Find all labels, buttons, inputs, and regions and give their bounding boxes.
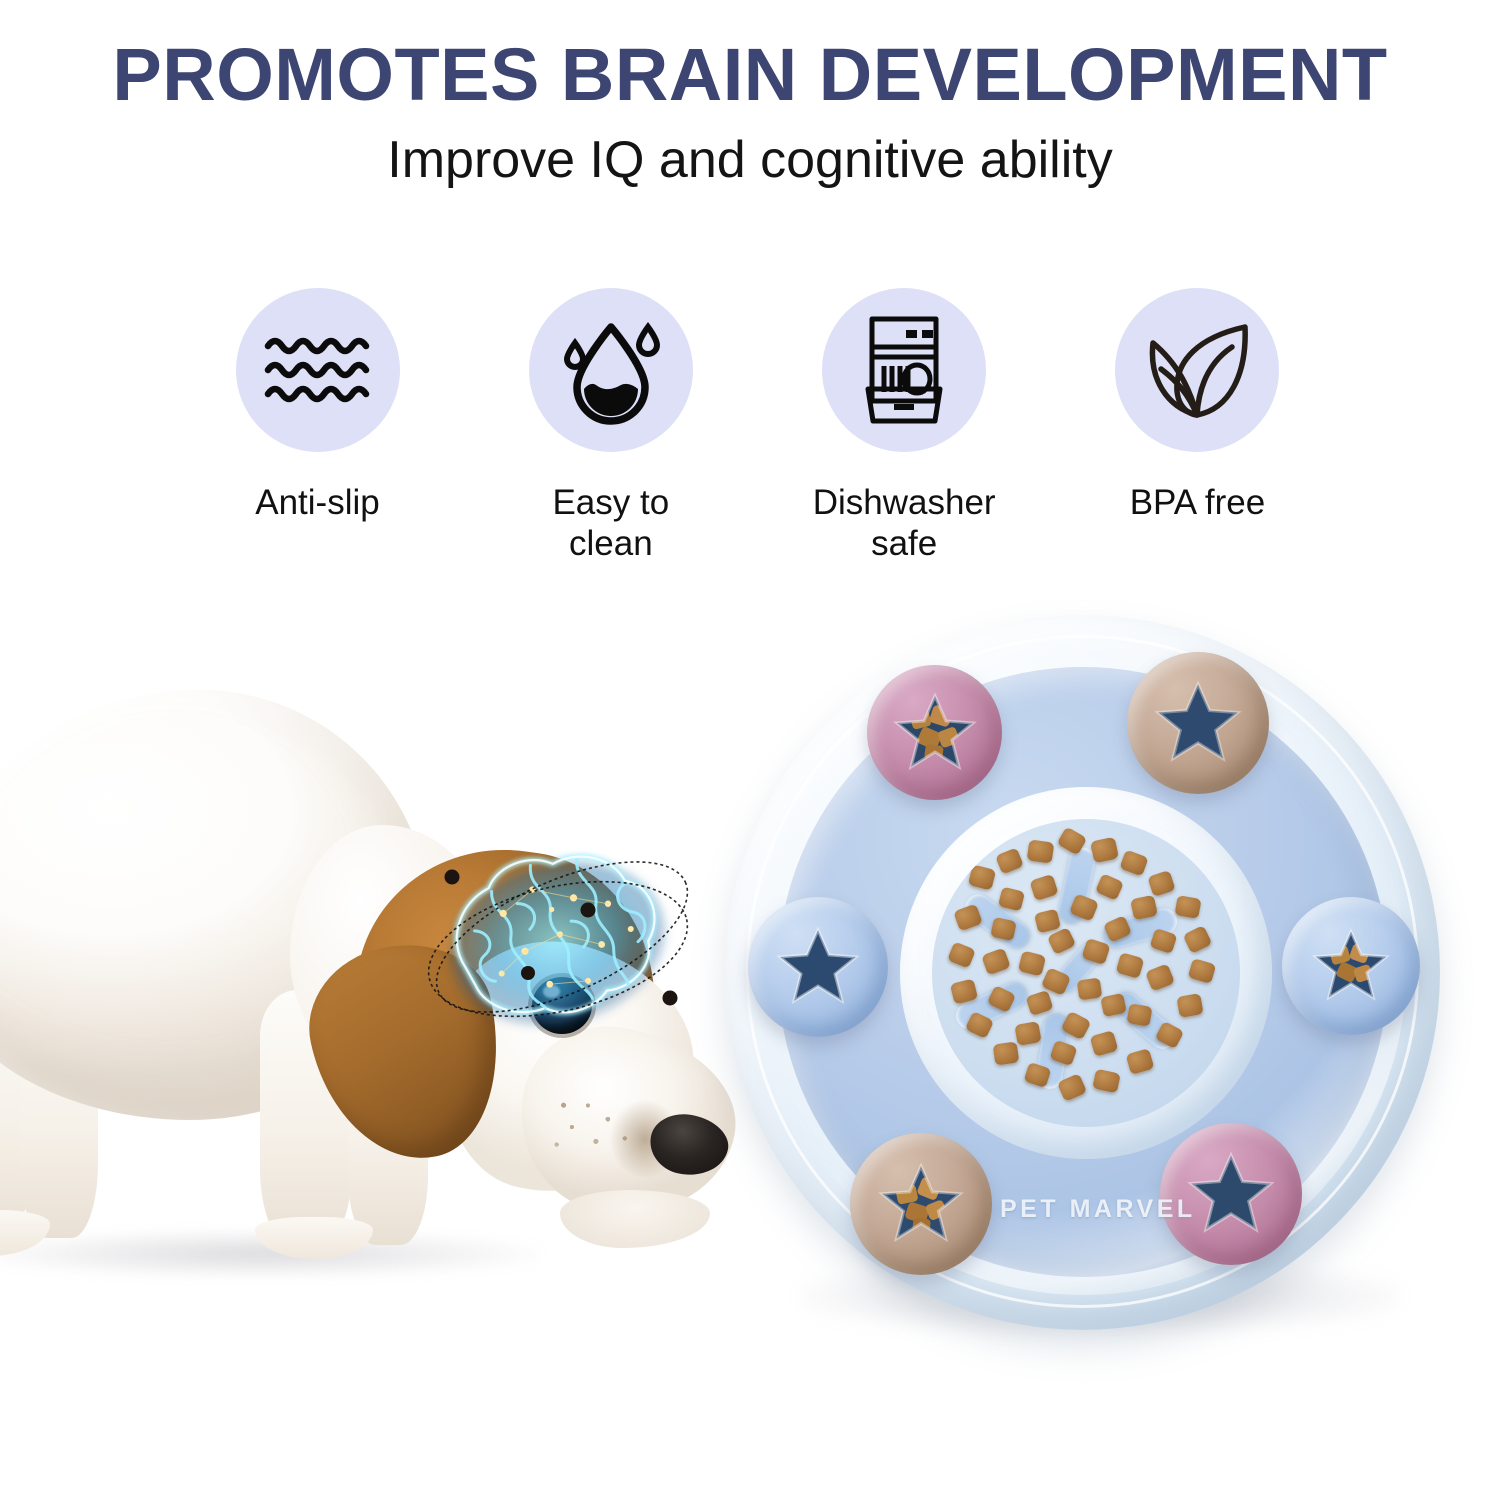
leaves-icon (1139, 317, 1255, 423)
kibble-piece (1116, 952, 1145, 979)
feature-badges-row: Anti-slip Easy to clean (225, 288, 1290, 565)
kibble-piece (993, 1041, 1020, 1065)
dishwasher-icon (851, 313, 957, 427)
feature-icon-circle (236, 288, 400, 452)
star-cavity-icon (774, 923, 862, 1011)
feature-label-line1: Dishwasher (813, 483, 996, 522)
kibble-piece (1029, 874, 1058, 901)
puzzle-knob-mid-right[interactable] (1282, 897, 1420, 1035)
product-brand-label: PET MARVEL (1000, 1195, 1196, 1224)
kibble-piece (1176, 993, 1203, 1018)
kibble-piece (1126, 1048, 1155, 1075)
kibble-piece (981, 948, 1011, 976)
kibble-piece (947, 941, 976, 968)
feature-label: Easy to clean (503, 482, 718, 565)
feature-label: BPA free (1130, 482, 1266, 523)
feature-label-line1: Easy to (552, 483, 669, 522)
kibble-piece (990, 917, 1017, 941)
puzzle-knob-bottom-left[interactable] (850, 1133, 992, 1275)
kibble-piece (1174, 895, 1201, 919)
feature-label-line2: safe (871, 524, 937, 563)
kibble-piece (1092, 1069, 1121, 1094)
star-cavity-icon (1152, 677, 1244, 769)
star-cavity-icon (1310, 925, 1392, 1007)
puzzle-knob-top-right[interactable] (1127, 652, 1269, 794)
page-title: PROMOTES BRAIN DEVELOPMENT (0, 38, 1500, 112)
glowing-brain-icon (400, 815, 730, 1085)
kibble-piece (1095, 873, 1124, 901)
feature-label-line2: clean (569, 524, 653, 563)
product-image-slow-feeder-bowl: PET MARVEL (700, 605, 1500, 1385)
kibble-piece (1014, 1021, 1041, 1046)
kibble-piece (1119, 849, 1148, 876)
kibble-piece (1149, 928, 1177, 954)
brain-overlay (400, 815, 730, 1085)
feature-icon-circle (529, 288, 693, 452)
kibble-piece (1027, 839, 1055, 863)
star-cavity-icon (876, 1159, 966, 1249)
kibble-piece (1188, 958, 1217, 984)
kibble-piece (995, 847, 1024, 874)
kibble-piece (1077, 977, 1103, 1000)
star-cavity-icon (891, 689, 979, 777)
kibble-piece (1047, 927, 1076, 955)
star-cavity-icon (1185, 1148, 1277, 1240)
page-subtitle: Improve IQ and cognitive ability (0, 134, 1500, 186)
kibble-piece (1090, 1030, 1119, 1057)
kibble-piece (1147, 870, 1175, 897)
kibble-piece (1126, 1003, 1152, 1027)
bowl-center-well (932, 819, 1240, 1127)
header-block: PROMOTES BRAIN DEVELOPMENT Improve IQ an… (0, 0, 1500, 186)
feature-label: Dishwasher safe (797, 482, 1012, 565)
dog-chin (560, 1190, 710, 1248)
kibble-piece (1183, 925, 1213, 954)
kibble-piece (968, 864, 996, 890)
kibble-piece (1090, 837, 1119, 864)
kibble-piece (1018, 950, 1046, 976)
puzzle-knob-top-left[interactable] (867, 665, 1002, 800)
puzzle-knob-mid-left[interactable] (748, 897, 888, 1037)
kibble-piece (1145, 963, 1175, 991)
kibble-piece (1034, 909, 1061, 934)
puzzle-knob-bottom-right[interactable] (1160, 1123, 1302, 1265)
feature-bpa-free: BPA free (1105, 288, 1290, 565)
feature-icon-circle (1115, 288, 1279, 452)
feature-anti-slip: Anti-slip (225, 288, 410, 565)
feature-dishwasher-safe: Dishwasher safe (812, 288, 997, 565)
kibble-piece (1025, 990, 1053, 1016)
wavy-lines-icon (262, 330, 374, 410)
water-droplet-icon (559, 315, 663, 425)
feature-icon-circle (822, 288, 986, 452)
feature-easy-to-clean: Easy to clean (518, 288, 703, 565)
feature-label: Anti-slip (255, 482, 379, 523)
